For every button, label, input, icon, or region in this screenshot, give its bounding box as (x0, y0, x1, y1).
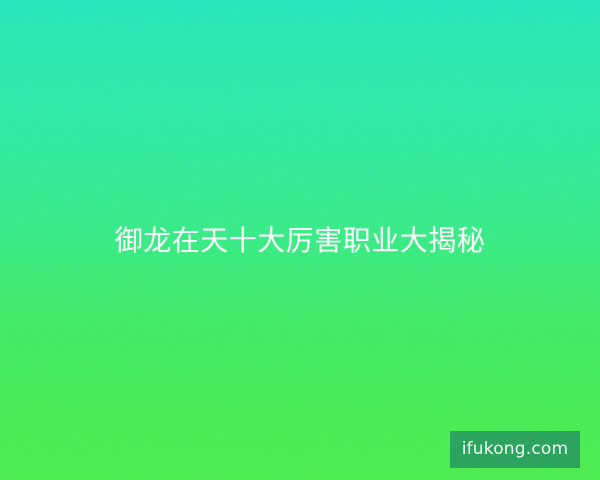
banner-headline: 御龙在天十大厉害职业大揭秘 (0, 224, 600, 258)
article-banner-image: 御龙在天十大厉害职业大揭秘 ifukong.com (0, 0, 600, 480)
watermark-label: ifukong.com (462, 441, 569, 458)
site-watermark-badge: ifukong.com (450, 431, 580, 468)
